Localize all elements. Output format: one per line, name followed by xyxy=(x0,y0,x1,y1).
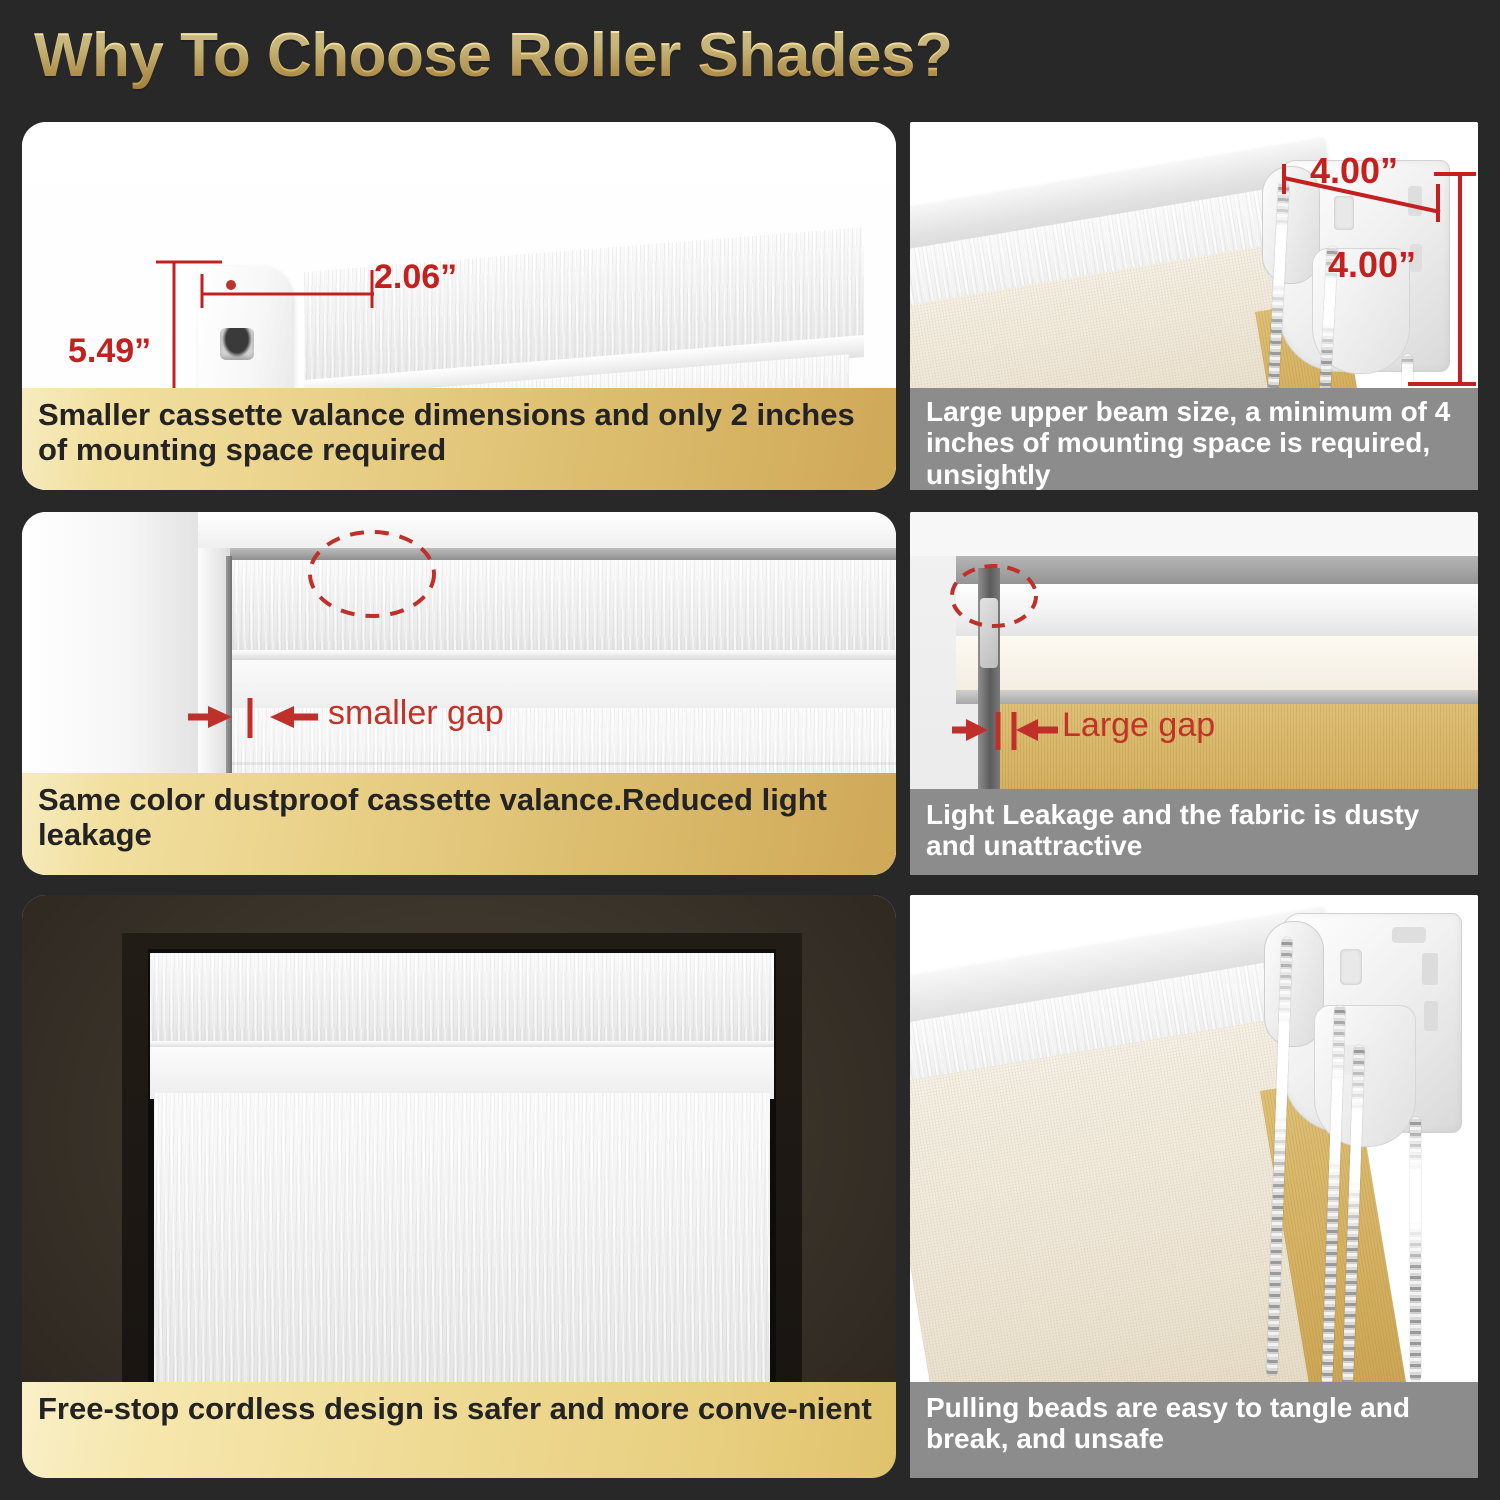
dimension-label-beam-width: 4.00” xyxy=(1310,150,1398,192)
bracket-lower-housing xyxy=(1314,1005,1416,1147)
caption-smaller-cassette: Smaller cassette valance dimensions and … xyxy=(22,388,896,490)
panel-dustproof-cassette: smaller gap Same color dustproof cassett… xyxy=(22,512,896,875)
bead-chain-right[interactable] xyxy=(1410,1117,1421,1382)
caption-pulling-beads: Pulling beads are easy to tangle and bre… xyxy=(910,1382,1478,1478)
dimension-label-width: 2.06” xyxy=(374,258,457,297)
dimension-label-beam-depth: 4.00” xyxy=(1328,244,1416,286)
caption-light-leakage: Light Leakage and the fabric is dusty an… xyxy=(910,789,1478,875)
bracket-notch-3-icon xyxy=(1424,1001,1438,1031)
shade-fabric xyxy=(154,1093,770,1399)
valance-lower-lip xyxy=(150,1047,774,1099)
dimension-label-height: 5.49” xyxy=(68,332,151,371)
bracket-slot-icon xyxy=(1340,949,1362,985)
caption-large-upper-beam: Large upper beam size, a minimum of 4 in… xyxy=(910,388,1478,490)
panel-smaller-cassette: 2.06” 5.49” Smaller cassette valance dim… xyxy=(22,122,896,490)
bracket-notch-2-icon xyxy=(1422,953,1438,985)
page-title: Why To Choose Roller Shades? xyxy=(34,20,952,91)
panel-free-stop-cordless: Free-stop cordless design is safer and m… xyxy=(22,895,896,1478)
panel-light-leakage: Large gap Light Leakage and the fabric i… xyxy=(910,512,1478,875)
gap-label-large: Large gap xyxy=(1062,706,1215,745)
title-bar: Why To Choose Roller Shades? xyxy=(0,0,1500,122)
panel-large-upper-beam: 4.00” 4.00” Large upper beam size, a min… xyxy=(910,122,1478,490)
cassette-valance xyxy=(150,953,774,1045)
caption-free-stop-cordless: Free-stop cordless design is safer and m… xyxy=(22,1382,896,1478)
bracket-notch-icon xyxy=(1392,927,1426,943)
panel-pulling-beads: Pulling beads are easy to tangle and bre… xyxy=(910,895,1478,1478)
caption-dustproof-cassette: Same color dustproof cassette valance.Re… xyxy=(22,773,896,875)
gap-label-smaller: smaller gap xyxy=(328,694,504,733)
